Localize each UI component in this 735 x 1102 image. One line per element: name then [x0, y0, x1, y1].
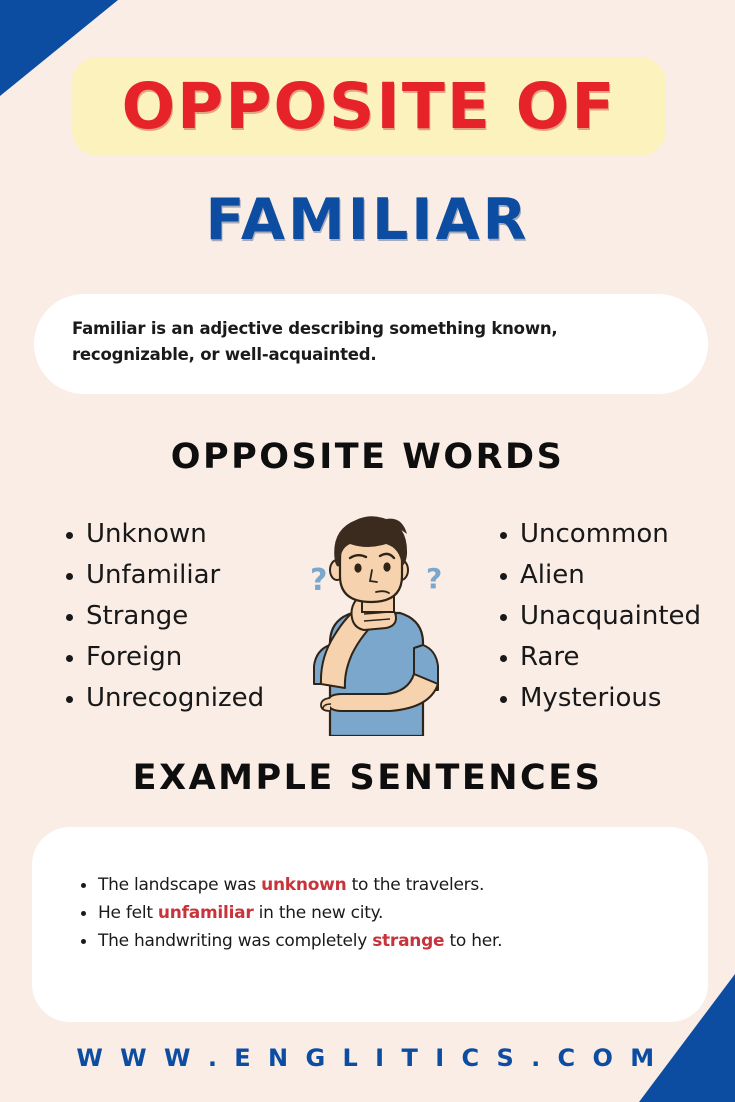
example-sentences-list: The landscape was unknown to the travele…: [72, 871, 668, 955]
definition-card: Familiar is an adjective describing some…: [34, 294, 708, 394]
opposite-words-column-right: Uncommon Alien Unacquainted Rare Mysteri…: [492, 514, 735, 719]
sentence-after: to the travelers.: [346, 875, 484, 895]
opposite-words-heading: OPPOSITE WORDS: [0, 440, 735, 475]
word-label: Rare: [520, 642, 580, 672]
question-mark-icon: ?: [310, 563, 327, 598]
opposite-words-list-left: Unknown Unfamiliar Strange Foreign Unrec…: [58, 514, 318, 719]
list-item: Unrecognized: [86, 678, 318, 719]
opposite-words-column-left: Unknown Unfamiliar Strange Foreign Unrec…: [58, 514, 318, 719]
list-item: He felt unfamiliar in the new city.: [98, 899, 668, 927]
word-label: Unacquainted: [520, 601, 701, 631]
word-label: Unknown: [86, 519, 207, 549]
list-item: Alien: [520, 555, 735, 596]
page-title-word: FAMILIAR: [0, 192, 735, 249]
sentence-before: The landscape was: [98, 875, 261, 895]
list-item: Unknown: [86, 514, 318, 555]
list-item: Mysterious: [520, 678, 735, 719]
list-item: Uncommon: [520, 514, 735, 555]
list-item: Rare: [520, 637, 735, 678]
word-label: Alien: [520, 560, 585, 590]
definition-text: Familiar is an adjective describing some…: [72, 316, 670, 367]
sentence-before: The handwriting was completely: [98, 931, 372, 951]
example-sentences-heading: EXAMPLE SENTENCES: [0, 761, 735, 796]
list-item: Foreign: [86, 637, 318, 678]
infographic-poster: OPPOSITE OF FAMILIAR Familiar is an adje…: [0, 0, 735, 1102]
list-item: The landscape was unknown to the travele…: [98, 871, 668, 899]
word-label: Unfamiliar: [86, 560, 220, 590]
sentence-after: to her.: [444, 931, 502, 951]
sentence-highlight: strange: [372, 931, 444, 951]
list-item: Unfamiliar: [86, 555, 318, 596]
word-label: Foreign: [86, 642, 182, 672]
word-label: Unrecognized: [86, 683, 264, 713]
word-label: Mysterious: [520, 683, 661, 713]
question-mark-icon: ?: [426, 562, 442, 595]
list-item: Unacquainted: [520, 596, 735, 637]
page-title-eyebrow: OPPOSITE OF: [72, 56, 666, 157]
sentence-after: in the new city.: [254, 903, 384, 923]
thinking-person-illustration: ? ?: [290, 508, 462, 736]
sentence-before: He felt: [98, 903, 158, 923]
opposite-words-list-right: Uncommon Alien Unacquainted Rare Mysteri…: [492, 514, 735, 719]
list-item: Strange: [86, 596, 318, 637]
sentence-highlight: unknown: [261, 875, 346, 895]
sentence-highlight: unfamiliar: [158, 903, 254, 923]
word-label: Strange: [86, 601, 188, 631]
list-item: The handwriting was completely strange t…: [98, 927, 668, 955]
website-url[interactable]: W W W . E N G L I T I C S . C O M: [0, 1046, 735, 1070]
example-sentences-card: The landscape was unknown to the travele…: [32, 827, 708, 1022]
word-label: Uncommon: [520, 519, 669, 549]
